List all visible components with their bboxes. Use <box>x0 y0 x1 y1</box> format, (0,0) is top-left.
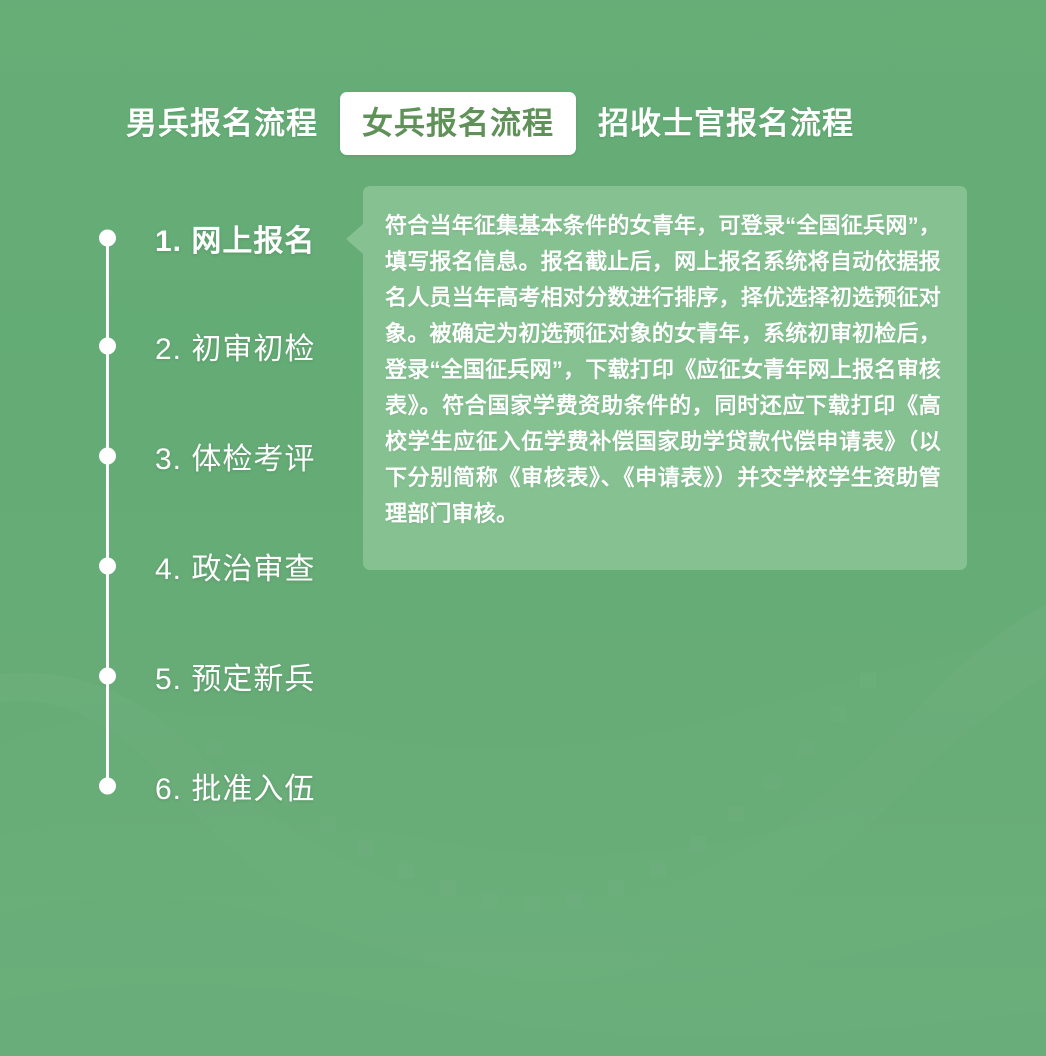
timeline-step-6[interactable]: 6. 批准入伍 <box>0 764 340 808</box>
step-detail-panel: 符合当年征集基本条件的女青年，可登录“全国征兵网”，填写报名信息。报名截止后，网… <box>363 186 967 570</box>
enlistment-step-timeline: 1. 网上报名 2. 初审初检 3. 体检考评 4. 政治审查 5. 预定新兵 … <box>0 186 340 826</box>
timeline-step-4[interactable]: 4. 政治审查 <box>0 544 340 588</box>
panel-pointer-arrow <box>346 224 363 254</box>
page-root: 男兵报名流程 女兵报名流程 招收士官报名流程 1. 网上报名 2. 初审初检 3… <box>0 0 1046 1056</box>
timeline-dot-icon <box>99 338 116 355</box>
timeline-dot-icon <box>99 230 116 247</box>
tab-noncommissioned-officer[interactable]: 招收士官报名流程 <box>576 92 876 155</box>
tab-label: 招收士官报名流程 <box>598 106 854 141</box>
timeline-step-label: 2. 初审初检 <box>155 324 315 368</box>
timeline-step-label: 6. 批准入伍 <box>155 764 315 808</box>
timeline-step-1[interactable]: 1. 网上报名 <box>0 216 340 260</box>
timeline-step-5[interactable]: 5. 预定新兵 <box>0 654 340 698</box>
timeline-step-2[interactable]: 2. 初审初检 <box>0 324 340 368</box>
tab-label: 男兵报名流程 <box>126 106 318 141</box>
timeline-step-label: 4. 政治审查 <box>155 544 315 588</box>
tab-male-soldier[interactable]: 男兵报名流程 <box>104 92 340 155</box>
timeline-dot-icon <box>99 668 116 685</box>
timeline-step-label: 5. 预定新兵 <box>155 654 315 698</box>
timeline-step-label: 3. 体检考评 <box>155 434 315 478</box>
timeline-step-3[interactable]: 3. 体检考评 <box>0 434 340 478</box>
timeline-dot-icon <box>99 558 116 575</box>
tab-female-soldier[interactable]: 女兵报名流程 <box>340 92 576 155</box>
timeline-dot-icon <box>99 778 116 795</box>
timeline-step-label: 1. 网上报名 <box>155 216 315 260</box>
tab-label: 女兵报名流程 <box>362 106 554 141</box>
timeline-rail <box>106 237 109 785</box>
step-detail-text: 符合当年征集基本条件的女青年，可登录“全国征兵网”，填写报名信息。报名截止后，网… <box>385 208 941 532</box>
timeline-dot-icon <box>99 448 116 465</box>
tab-bar: 男兵报名流程 女兵报名流程 招收士官报名流程 <box>104 92 876 155</box>
